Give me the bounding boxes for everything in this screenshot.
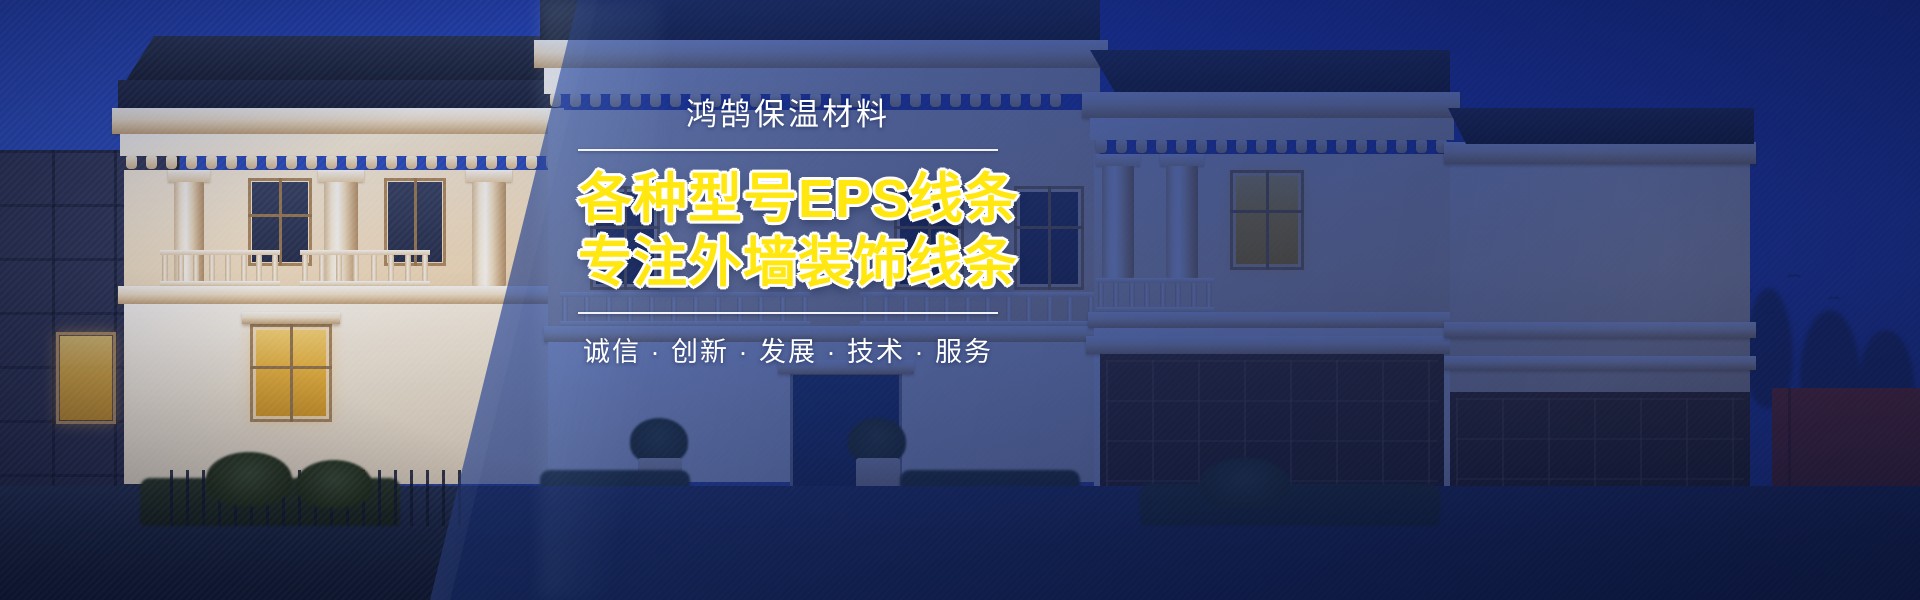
- tagline: 诚信 · 创新 · 发展 · 技术 · 服务: [578, 330, 998, 369]
- headline-line-1: 各种型号EPS线条: [578, 169, 998, 229]
- brand-name: 鸿鹄保温材料: [578, 96, 998, 135]
- headline-line-2: 专注外墙装饰线条: [578, 233, 998, 293]
- banner-text-block: 鸿鹄保温材料 各种型号EPS线条 专注外墙装饰线条 诚信 · 创新 · 发展 ·…: [578, 96, 998, 369]
- divider-bottom: [578, 312, 998, 314]
- hero-banner: 鸿鹄保温材料 各种型号EPS线条 专注外墙装饰线条 诚信 · 创新 · 发展 ·…: [0, 0, 1920, 600]
- divider-top: [578, 149, 998, 151]
